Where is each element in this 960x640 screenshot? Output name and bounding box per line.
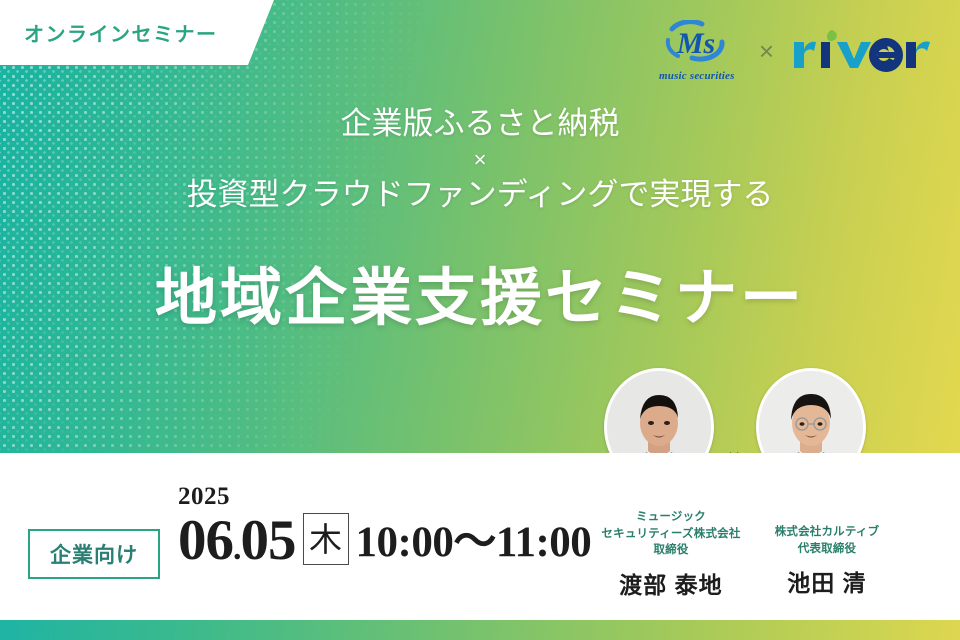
audience-badge: 企業向け: [28, 529, 160, 579]
speaker-caption-watanabe: ミュージック セキュリティーズ株式会社 取締役 渡部 泰地: [596, 509, 746, 600]
speaker-caption-ikeda: 株式会社カルティブ 代表取締役 池田 清: [752, 524, 902, 598]
music-securities-logo: Ms music securities: [649, 19, 745, 83]
svg-text:Ms: Ms: [676, 27, 715, 60]
river-logo: [788, 28, 938, 74]
speaker-org-line-2: 代表取締役: [752, 541, 902, 558]
subtitle-line-1: 企業版ふるさと納税: [0, 104, 960, 144]
event-day: 05: [241, 509, 296, 572]
speaker-org-line-1: ミュージック: [596, 509, 746, 526]
event-weekday: 木: [309, 523, 342, 556]
online-seminar-badge: オンラインセミナー: [0, 0, 278, 65]
subtitle-block: 企業版ふるさと納税 × 投資型クラウドファンディングで実現する: [0, 104, 960, 215]
music-securities-mark-icon: Ms: [662, 20, 732, 62]
speaker-org-line-2: セキュリティーズ株式会社: [596, 526, 746, 543]
footer-gradient-bar: [0, 620, 960, 640]
date-separator: .: [233, 530, 241, 567]
logo-separator-x: ×: [759, 38, 774, 64]
event-month: 06: [178, 509, 233, 572]
speaker-name: 渡部 泰地: [596, 566, 746, 600]
seminar-banner: オンラインセミナー Ms music securities ×: [0, 0, 960, 640]
event-date-block: 2025 06.05 木 10:00〜11:00: [178, 484, 591, 567]
speaker-org-line-1: 株式会社カルティブ: [752, 524, 902, 541]
event-time: 10:00〜11:00: [356, 521, 592, 567]
speaker-name: 池田 清: [752, 564, 902, 598]
logo-lockup: Ms music securities ×: [649, 18, 938, 84]
subtitle-line-2: 投資型クラウドファンディングで実現する: [0, 175, 960, 215]
event-date-line: 06.05 木 10:00〜11:00: [178, 513, 591, 567]
subtitle-separator-x: ×: [0, 145, 960, 175]
page-title: 地域企業支援セミナー: [0, 247, 960, 337]
event-year: 2025: [178, 484, 591, 509]
event-month-day: 06.05: [178, 515, 296, 567]
music-securities-caption: music securities: [649, 70, 745, 82]
speaker-org-line-3: 取締役: [596, 542, 746, 559]
audience-badge-label: 企業向け: [50, 539, 138, 569]
online-seminar-badge-label: オンラインセミナー: [24, 18, 218, 47]
event-weekday-box: 木: [303, 513, 349, 565]
